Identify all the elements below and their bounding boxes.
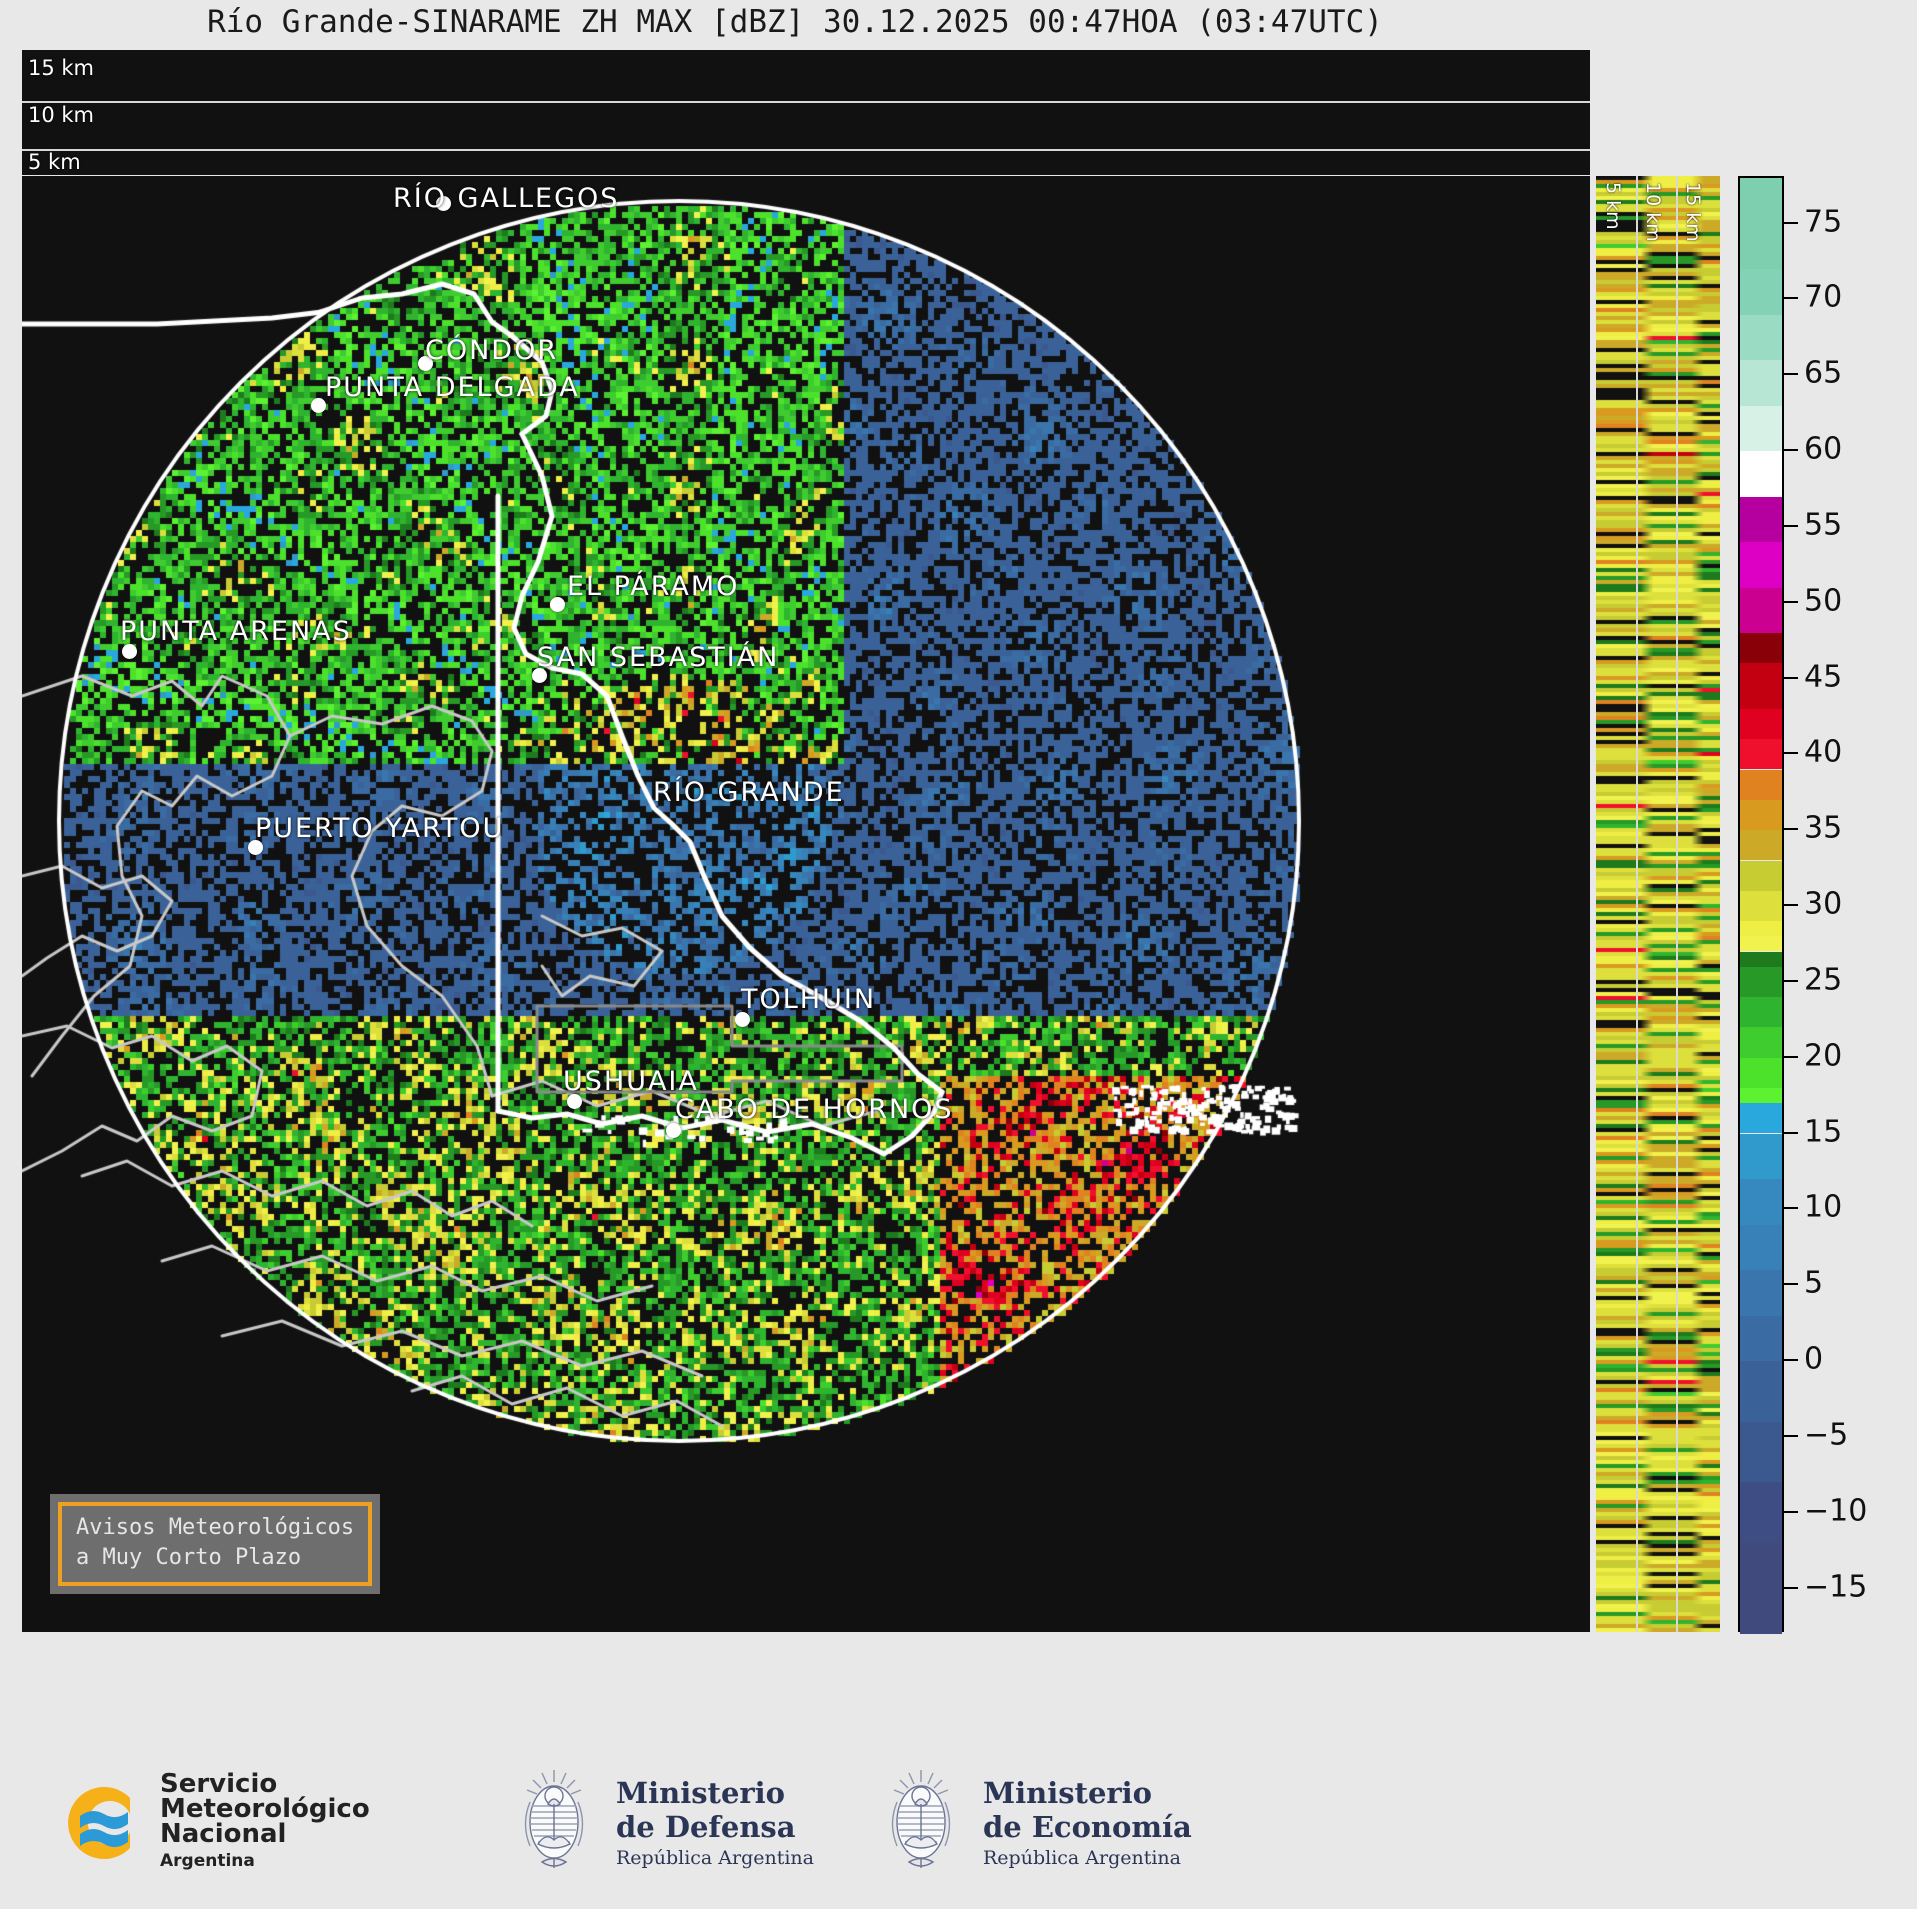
coat-of-arms-icon (875, 1768, 967, 1876)
city-label: PUERTO YARTOU (255, 813, 504, 844)
colorbar-segment (1740, 633, 1782, 663)
gridline-10km (22, 101, 1590, 103)
colorbar-segment (1740, 997, 1782, 1027)
colorbar-segment (1740, 1422, 1782, 1483)
gridline-5km (22, 149, 1590, 151)
colorbar-tick (1784, 222, 1798, 224)
colorbar-tick-label: 35 (1804, 811, 1842, 846)
colorbar-segment (1740, 739, 1782, 769)
colorbar-tick-label: 15 (1804, 1114, 1842, 1149)
city-marker-dot (311, 398, 326, 413)
colorbar-tick (1784, 525, 1798, 527)
colorbar-segment (1740, 1543, 1782, 1634)
radar-reflectivity-canvas[interactable] (22, 176, 1590, 1632)
city-label: PUNTA DELGADA (325, 372, 580, 403)
city-label: RÍO GALLEGOS (393, 183, 619, 214)
colorbar-tick-label: 65 (1804, 356, 1842, 391)
colorbar-tick-label: 5 (1804, 1266, 1823, 1301)
colorbar-tick-label: 40 (1804, 735, 1842, 770)
colorbar-tick-label: 20 (1804, 1038, 1842, 1073)
colorbar-tick-label: 45 (1804, 659, 1842, 694)
warning-line-1: Avisos Meteorológicos (76, 1513, 354, 1543)
smn-logo-icon (52, 1776, 146, 1870)
city-label: CABO DE HORNOS (675, 1094, 954, 1125)
colorbar: 757065605550454035302520151050−5−10−15 (1738, 176, 1898, 1632)
colorbar-segment (1740, 936, 1782, 951)
ministry-economia-sub: República Argentina (983, 1847, 1192, 1869)
colorbar-tick (1784, 677, 1798, 679)
colorbar-segment (1740, 770, 1782, 800)
colorbar-segment (1740, 1270, 1782, 1316)
ministry-economia-line-1: Ministerio (983, 1776, 1192, 1810)
colorbar-tick (1784, 1132, 1798, 1134)
colorbar-tick-label: 30 (1804, 887, 1842, 922)
warning-badge[interactable]: Avisos Meteorológicos a Muy Corto Plazo (50, 1494, 380, 1594)
colorbar-segment (1740, 315, 1782, 361)
colorbar-segment (1740, 1179, 1782, 1225)
right-cross-section-panel: 5 km 10 km 15 km (1596, 176, 1720, 1632)
colorbar-gradient (1738, 176, 1784, 1632)
colorbar-tick-label: −10 (1804, 1493, 1867, 1528)
city-label: SAN SEBASTIÁN (537, 642, 779, 673)
colorbar-segment (1740, 1134, 1782, 1180)
colorbar-tick (1784, 1283, 1798, 1285)
colorbar-tick (1784, 904, 1798, 906)
colorbar-tick (1784, 373, 1798, 375)
ministry-economia-line-2: de Economía (983, 1810, 1192, 1844)
ministry-defensa-sub: República Argentina (616, 1847, 814, 1869)
colorbar-tick (1784, 297, 1798, 299)
height-label-vertical-5km: 5 km (1602, 182, 1624, 230)
colorbar-segment (1740, 1088, 1782, 1103)
colorbar-tick (1784, 1359, 1798, 1361)
colorbar-segment (1740, 1482, 1782, 1543)
colorbar-tick (1784, 980, 1798, 982)
ministry-defensa-line-1: Ministerio (616, 1776, 814, 1810)
right-cross-section-canvas (1596, 176, 1720, 1632)
colorbar-tick-label: 0 (1804, 1342, 1823, 1377)
city-marker-dot (550, 597, 565, 612)
ministry-defensa-line-2: de Defensa (616, 1810, 814, 1844)
top-cross-section-panel: 15 km 10 km 5 km (22, 50, 1590, 175)
colorbar-segment (1740, 269, 1782, 315)
height-label-15km: 15 km (28, 56, 94, 80)
colorbar-segment (1740, 1225, 1782, 1271)
colorbar-segment (1740, 891, 1782, 921)
page-title: Río Grande-SINARAME ZH MAX [dBZ] 30.12.2… (0, 4, 1590, 40)
radar-map-panel[interactable]: RÍO GALLEGOSCÓNDORPUNTA DELGADAPUNTA ARE… (22, 176, 1590, 1632)
colorbar-segment (1740, 406, 1782, 452)
city-label: CÓNDOR (425, 335, 558, 366)
colorbar-tick (1784, 1511, 1798, 1513)
colorbar-segment (1740, 497, 1782, 543)
colorbar-segment (1740, 588, 1782, 634)
colorbar-tick-label: −15 (1804, 1569, 1867, 1604)
colorbar-segment (1740, 360, 1782, 406)
colorbar-tick (1784, 601, 1798, 603)
coat-of-arms-icon (508, 1768, 600, 1876)
height-label-10km: 10 km (28, 103, 94, 127)
city-label: PUNTA ARENAS (120, 616, 352, 647)
colorbar-segment (1740, 1316, 1782, 1362)
smn-line-3: Nacional (160, 1822, 370, 1847)
colorbar-tick (1784, 1587, 1798, 1589)
footer-logos: Servicio Meteorológico Nacional Argentin… (0, 1730, 1917, 1909)
logo-ministerio-defensa: Ministerio de Defensa República Argentin… (508, 1768, 814, 1876)
city-label: RÍO GRANDE (653, 777, 845, 808)
colorbar-tick (1784, 752, 1798, 754)
colorbar-tick-label: 50 (1804, 583, 1842, 618)
city-label: USHUAIA (563, 1066, 699, 1097)
colorbar-tick-label: 75 (1804, 204, 1842, 239)
logo-smn: Servicio Meteorológico Nacional Argentin… (52, 1772, 370, 1874)
colorbar-tick (1784, 1056, 1798, 1058)
height-label-vertical-10km: 10 km (1642, 182, 1664, 242)
colorbar-segment (1740, 1058, 1782, 1088)
colorbar-segment (1740, 663, 1782, 709)
city-label: EL PÁRAMO (567, 571, 739, 602)
colorbar-segment (1740, 861, 1782, 891)
colorbar-tick-label: −5 (1804, 1417, 1848, 1452)
colorbar-tick-label: 25 (1804, 962, 1842, 997)
city-marker-dot (666, 1123, 681, 1138)
colorbar-segment (1740, 451, 1782, 497)
colorbar-tick-label: 60 (1804, 432, 1842, 467)
colorbar-segment (1740, 1027, 1782, 1057)
colorbar-segment (1740, 921, 1782, 936)
gridline-vertical-10km (1636, 176, 1638, 1632)
colorbar-segment (1740, 709, 1782, 739)
colorbar-tick (1784, 1435, 1798, 1437)
gridline-vertical-15km (1676, 176, 1678, 1632)
colorbar-tick-label: 55 (1804, 507, 1842, 542)
colorbar-segment (1740, 952, 1782, 967)
colorbar-tick-label: 70 (1804, 280, 1842, 315)
warning-line-2: a Muy Corto Plazo (76, 1543, 354, 1573)
colorbar-segment (1740, 178, 1782, 269)
colorbar-tick (1784, 1207, 1798, 1209)
top-cross-section-canvas (22, 50, 1590, 175)
colorbar-segment (1740, 830, 1782, 860)
city-label: TOLHUIN (741, 984, 876, 1015)
colorbar-segment (1740, 542, 1782, 588)
colorbar-segment (1740, 800, 1782, 830)
colorbar-tick (1784, 828, 1798, 830)
smn-line-4: Argentina (160, 1849, 370, 1874)
height-label-vertical-15km: 15 km (1682, 182, 1704, 242)
colorbar-tick (1784, 449, 1798, 451)
colorbar-segment (1740, 1361, 1782, 1422)
colorbar-segment (1740, 967, 1782, 997)
logo-ministerio-economia: Ministerio de Economía República Argenti… (875, 1768, 1192, 1876)
colorbar-tick-label: 10 (1804, 1190, 1842, 1225)
colorbar-segment (1740, 1103, 1782, 1133)
height-label-5km: 5 km (28, 150, 81, 174)
